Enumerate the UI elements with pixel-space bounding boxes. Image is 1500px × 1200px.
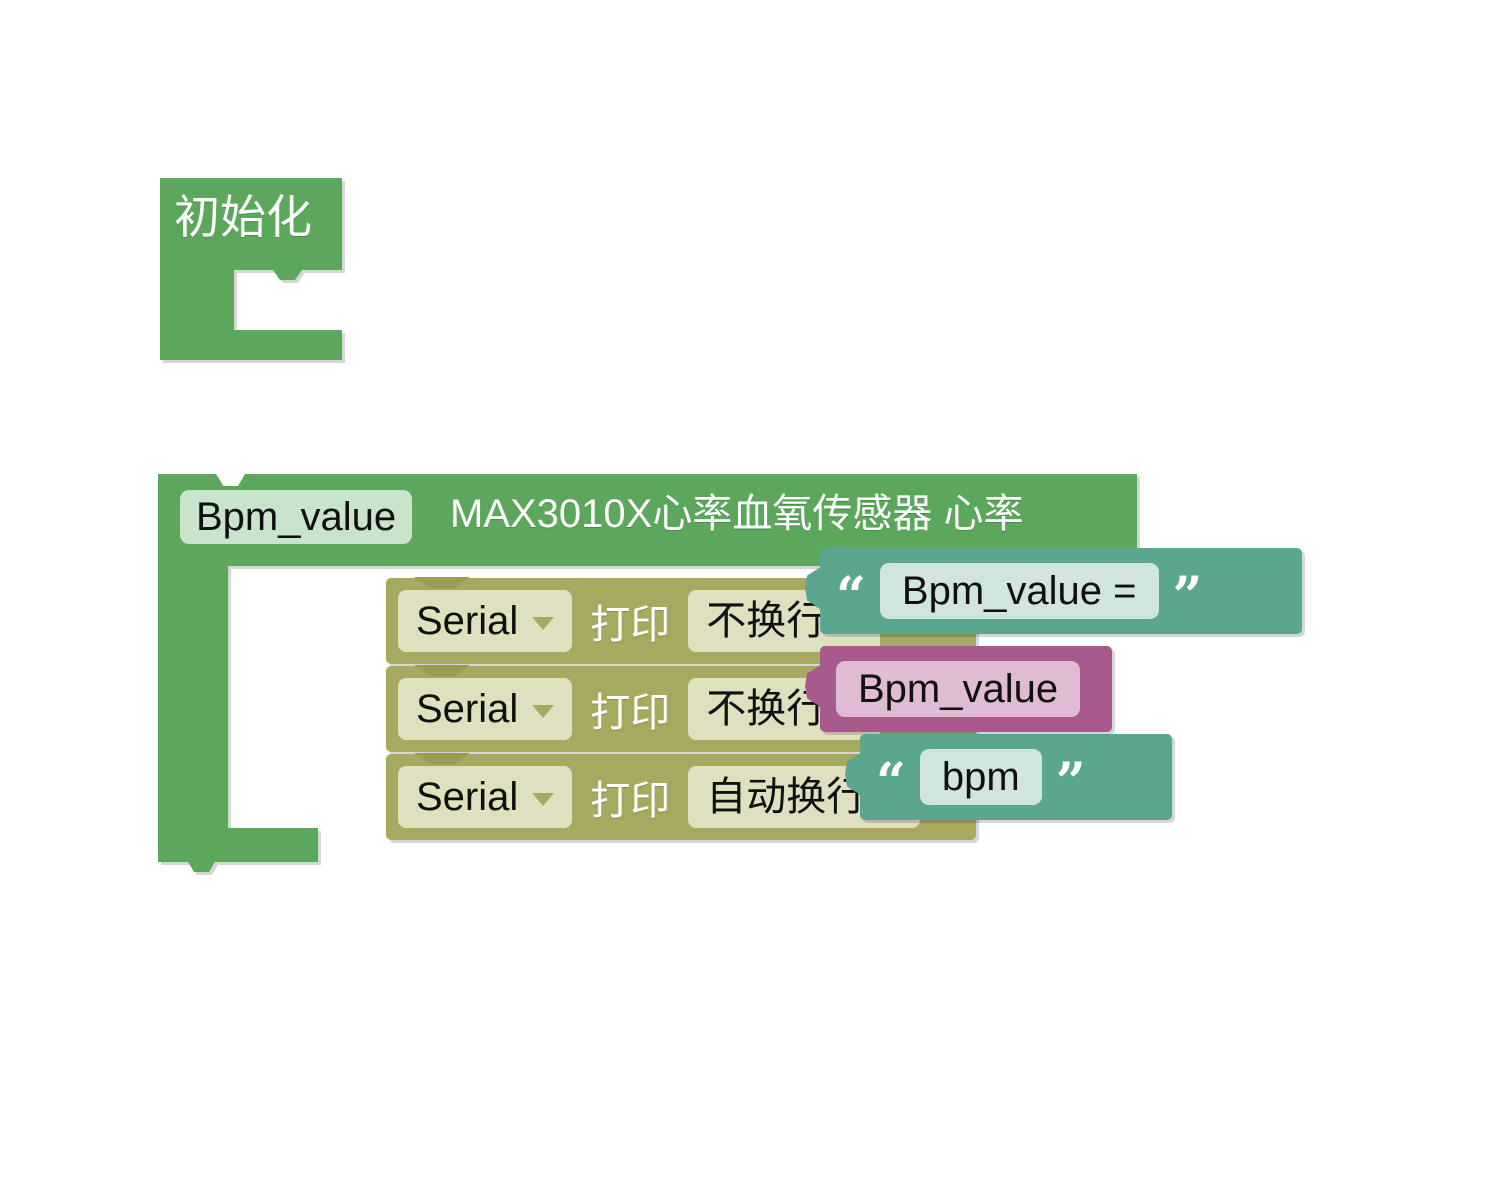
text-value-block-2[interactable]: “ bpm ” [860, 734, 1172, 820]
newline-value-1: 不换行 [706, 601, 826, 641]
serial-port-dropdown-1[interactable]: Serial [398, 590, 572, 652]
text-value-block-1-content: “ Bpm_value = ” [836, 548, 1202, 634]
close-quote-icon: ” [1173, 569, 1203, 612]
variable-name-field[interactable]: Bpm_value [180, 490, 412, 544]
text-input-2[interactable]: bpm [920, 749, 1042, 805]
variable-value-block-content: Bpm_value [836, 646, 1080, 732]
init-block[interactable]: 初始化 [152, 170, 350, 368]
serial-port-value-2: Serial [416, 689, 518, 729]
main-block-title: MAX3010X心率血氧传感器 心率 [450, 494, 1023, 534]
print-label-2: 打印 [572, 680, 688, 738]
variable-name-text: Bpm_value [196, 497, 396, 537]
open-quote-icon: “ [876, 755, 906, 798]
newline-value-3: 自动换行 [706, 777, 866, 817]
serial-port-value-3: Serial [416, 777, 518, 817]
chevron-down-icon [532, 617, 554, 630]
print-label-3: 打印 [572, 768, 688, 826]
serial-port-dropdown-2[interactable]: Serial [398, 678, 572, 740]
close-quote-icon: ” [1056, 755, 1086, 798]
variable-value-block[interactable]: Bpm_value [820, 646, 1112, 732]
blockly-workspace[interactable]: 初始化 Bpm_value MAX3010X心率血氧传感器 心率 Serial … [0, 0, 1500, 1200]
variable-value-text[interactable]: Bpm_value [836, 661, 1080, 717]
serial-port-value-1: Serial [416, 601, 518, 641]
print-label-1: 打印 [572, 592, 688, 650]
serial-port-dropdown-3[interactable]: Serial [398, 766, 572, 828]
chevron-down-icon [532, 705, 554, 718]
text-value-block-2-content: “ bpm ” [876, 734, 1086, 820]
text-input-1[interactable]: Bpm_value = [880, 563, 1159, 619]
open-quote-icon: “ [836, 569, 866, 612]
serial-print-row-3-content: Serial 打印 自动换行 [398, 766, 920, 828]
init-block-label: 初始化 [174, 194, 312, 240]
text-value-block-1[interactable]: “ Bpm_value = ” [820, 548, 1302, 634]
chevron-down-icon [532, 793, 554, 806]
